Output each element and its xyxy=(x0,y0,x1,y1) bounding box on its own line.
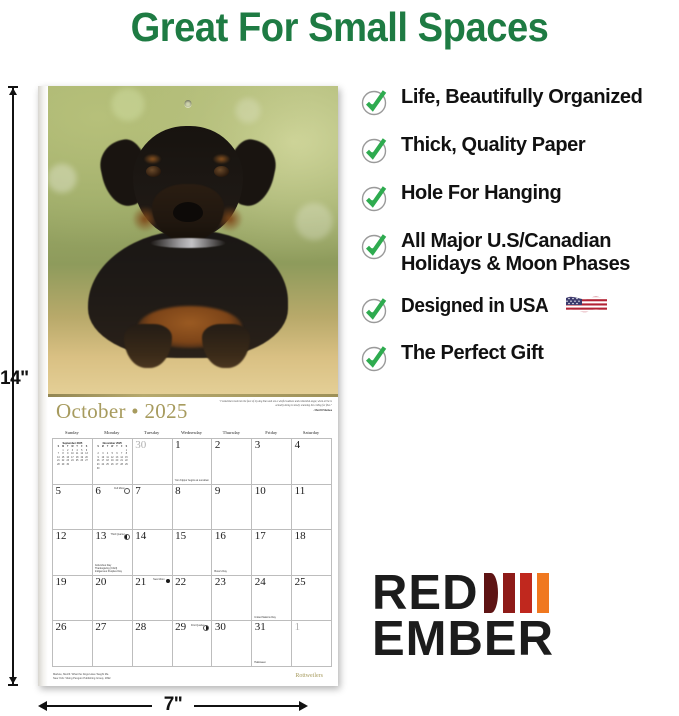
autumn-leaves xyxy=(38,298,338,394)
calendar-day-cell: 26 xyxy=(53,621,93,667)
mini-calendar-dow: S xyxy=(84,446,89,449)
calendar-day-number: 9 xyxy=(215,486,221,497)
mini-calendar-day: 30 xyxy=(96,468,101,471)
feature-label: The Perfect Gift xyxy=(401,342,544,364)
feature-row: The Perfect Gift xyxy=(360,342,672,372)
calendar-day-name: Wednesday xyxy=(172,430,212,435)
calendar-day-number: 30 xyxy=(215,622,226,633)
calendar-day-number: 18 xyxy=(295,531,306,542)
calendar-day-cell: 6Full Moon xyxy=(93,485,133,531)
dog-collar xyxy=(150,238,226,248)
height-cap-top xyxy=(8,86,18,88)
feature-label: Hole For Hanging xyxy=(401,182,561,204)
calendar-day-cell: 18 xyxy=(292,530,332,576)
mini-calendar: September 2025SMTWTFS1234567891011121314… xyxy=(56,442,89,467)
calendar-day-number: 24 xyxy=(255,577,266,588)
dog-eye-right xyxy=(214,166,229,177)
calendar-day-cell: 9 xyxy=(212,485,252,531)
calendar-day-cell: 15 xyxy=(173,530,213,576)
feature-label: Designed in USA xyxy=(401,295,548,318)
calendar-day-cell: 20 xyxy=(93,576,133,622)
check-circle-icon xyxy=(360,231,390,261)
calendar-day-cell: 14 xyxy=(133,530,173,576)
calendar-day-grid: September 2025SMTWTFS1234567891011121314… xyxy=(52,438,332,667)
calendar-quote-author: - Merrill Markoe xyxy=(214,409,332,413)
calendar-day-cell: 3 xyxy=(252,439,292,485)
calendar-day-number: 6 xyxy=(95,486,101,497)
feature-label: Life, Beautifully Organized xyxy=(401,86,642,108)
feature-row: Life, Beautifully Organized xyxy=(360,86,672,116)
calendar-header: October • 2025 "I sometimes look into th… xyxy=(38,397,338,429)
mini-calendar-day: 20 xyxy=(84,457,89,460)
moon-phase-icon xyxy=(166,579,170,583)
calendar-holiday-note: Boss's Day xyxy=(214,570,249,573)
dog-brow-right xyxy=(213,154,230,164)
calendar-day-number: 27 xyxy=(95,622,106,633)
check-circle-icon xyxy=(360,343,390,373)
mini-calendar-day xyxy=(84,464,89,467)
moon-phase-label: Full Moon xyxy=(114,487,125,490)
calendar-day-number: 23 xyxy=(215,577,226,588)
calendar-day-number: 31 xyxy=(255,622,266,633)
width-bar-left xyxy=(46,705,152,707)
calendar-day-cell: 28 xyxy=(133,621,173,667)
mini-calendar-day: 29 xyxy=(124,464,129,467)
calendar-day-cell: 13Third QuarterColumbus Day Thanksgiving… xyxy=(93,530,133,576)
calendar-day-cell: 22 xyxy=(173,576,213,622)
calendar-day-number: 7 xyxy=(135,486,141,497)
calendar-day-number: 5 xyxy=(56,486,62,497)
calendar-holiday-note: Columbus Day Thanksgiving (CAN) Indigeno… xyxy=(95,564,130,574)
calendar-day-number: 10 xyxy=(255,486,266,497)
width-arrow-right xyxy=(299,701,308,711)
hanging-hole xyxy=(185,100,192,107)
calendar-day-cell: 30 xyxy=(212,621,252,667)
width-dimension-line: 7" xyxy=(38,699,308,713)
calendar-day-cell: 7 xyxy=(133,485,173,531)
calendar-day-number: 25 xyxy=(295,577,306,588)
calendar-day-cell: 25 xyxy=(292,576,332,622)
calendar-day-number: 19 xyxy=(56,577,67,588)
calendar-grid-panel: October • 2025 "I sometimes look into th… xyxy=(38,394,338,686)
mini-calendar: November 2025SMTWTFS12345678910111213141… xyxy=(96,442,129,471)
moon-phase-label: First Quarter xyxy=(191,624,204,627)
calendar-day-number: 2 xyxy=(215,440,221,451)
mini-calendar-dow: S xyxy=(124,446,129,449)
calendar-day-cell: 8 xyxy=(173,485,213,531)
calendar-day-number: 21 xyxy=(135,577,146,588)
calendar-day-number: 16 xyxy=(215,531,226,542)
logo-line-red: RED xyxy=(372,570,592,616)
calendar-day-number: 22 xyxy=(175,577,186,588)
calendar-day-name: Tuesday xyxy=(132,430,172,435)
logo-bars xyxy=(484,573,549,613)
mini-calendar-day: 27 xyxy=(84,460,89,463)
calendar-footer-credit: Markoe, Merrill. What the Dogs Have Taug… xyxy=(53,673,111,680)
calendar-day-number: 15 xyxy=(175,531,186,542)
height-label: 14" xyxy=(0,368,34,390)
calendar-month-title: October • 2025 xyxy=(56,399,188,424)
check-circle-icon xyxy=(360,87,390,117)
feature-list: Life, Beautifully OrganizedThick, Qualit… xyxy=(360,86,672,390)
width-bar-right xyxy=(194,705,300,707)
height-cap-bottom xyxy=(8,684,18,686)
calendar-day-cell: 1Yom Kippur begins at sundown xyxy=(173,439,213,485)
calendar-quote-text: "I sometimes look into the face of my do… xyxy=(219,400,332,407)
calendar-day-cell: 10 xyxy=(252,485,292,531)
calendar-day-cell: 4 xyxy=(292,439,332,485)
calendar-day-cell: 27 xyxy=(93,621,133,667)
mini-calendar-day: 6 xyxy=(84,450,89,453)
calendar-day-cell: 1 xyxy=(292,621,332,667)
logo-bar-4 xyxy=(537,573,549,613)
calendar-day-cell: 19 xyxy=(53,576,93,622)
calendar-product: October • 2025 "I sometimes look into th… xyxy=(38,86,338,686)
mini-calendar-day: 13 xyxy=(84,453,89,456)
calendar-day-cell: 24United Nations Day xyxy=(252,576,292,622)
calendar-holiday-note: Yom Kippur begins at sundown xyxy=(175,479,210,482)
calendar-day-names: SundayMondayTuesdayWednesdayThursdayFrid… xyxy=(52,430,331,435)
calendar-day-number: 30 xyxy=(135,440,146,451)
calendar-day-number: 13 xyxy=(95,531,106,542)
mini-calendar-day: 1 xyxy=(124,450,129,453)
calendar-day-cell: 2 xyxy=(212,439,252,485)
calendar-day-number: 17 xyxy=(255,531,266,542)
feature-label: Thick, Quality Paper xyxy=(401,134,585,156)
moon-phase-label: Third Quarter xyxy=(110,533,124,536)
calendar-day-cell: 5 xyxy=(53,485,93,531)
calendar-photo-panel xyxy=(38,86,338,394)
calendar-day-cell: 21New Moon xyxy=(133,576,173,622)
height-arrow-bottom xyxy=(9,677,17,684)
calendar-day-cell: 16Boss's Day xyxy=(212,530,252,576)
calendar-day-number: 26 xyxy=(56,622,67,633)
calendar-day-cell: September 2025SMTWTFS1234567891011121314… xyxy=(53,439,93,485)
calendar-day-number: 1 xyxy=(295,622,301,633)
calendar-day-cell: 29First Quarter xyxy=(173,621,213,667)
calendar-day-cell: 30 xyxy=(133,439,173,485)
check-circle-icon xyxy=(360,135,390,165)
usa-flag-icon xyxy=(564,294,608,321)
red-ember-logo: RED EMBER xyxy=(372,570,592,662)
mini-calendar-grid: SMTWTFS123456789101112131415161718192021… xyxy=(56,446,89,467)
mini-calendar-title: September 2025 xyxy=(56,442,89,445)
check-circle-icon xyxy=(360,183,390,213)
calendar-day-cell: 31Halloween xyxy=(252,621,292,667)
feature-row: Hole For Hanging xyxy=(360,182,672,212)
logo-bar-2 xyxy=(503,573,515,613)
calendar-day-number: 1 xyxy=(175,440,181,451)
calendar-day-number: 28 xyxy=(135,622,146,633)
mini-calendar-day: 8 xyxy=(124,453,129,456)
calendar-day-number: 3 xyxy=(255,440,261,451)
logo-bar-1 xyxy=(484,573,498,613)
width-label: 7" xyxy=(157,694,190,716)
calendar-day-name: Saturday xyxy=(291,430,331,435)
dog-nose xyxy=(173,202,203,222)
calendar-day-name: Thursday xyxy=(211,430,251,435)
feature-row: All Major U.S/Canadian Holidays & Moon P… xyxy=(360,230,672,276)
calendar-day-number: 11 xyxy=(295,486,306,497)
calendar-day-name: Monday xyxy=(92,430,132,435)
calendar-day-cell: November 2025SMTWTFS12345678910111213141… xyxy=(93,439,133,485)
calendar-day-cell: 17 xyxy=(252,530,292,576)
logo-bar-3 xyxy=(520,573,532,613)
calendar-day-name: Sunday xyxy=(52,430,92,435)
calendar-quote: "I sometimes look into the face of my do… xyxy=(214,400,332,412)
dog-brow-left xyxy=(144,154,161,164)
calendar-day-cell: 12 xyxy=(53,530,93,576)
mini-calendar-day: 15 xyxy=(124,457,129,460)
calendar-day-number: 29 xyxy=(175,622,186,633)
calendar-day-number: 20 xyxy=(95,577,106,588)
calendar-day-number: 4 xyxy=(295,440,301,451)
calendar-footer-breed: Rottweilers xyxy=(295,673,323,679)
mini-calendar-day: 22 xyxy=(124,460,129,463)
calendar-day-number: 8 xyxy=(175,486,181,497)
calendar-day-number: 12 xyxy=(56,531,67,542)
calendar-day-cell: 11 xyxy=(292,485,332,531)
height-arrow-top xyxy=(9,88,17,95)
mini-calendar-title: November 2025 xyxy=(96,442,129,445)
calendar-day-cell: 23 xyxy=(212,576,252,622)
logo-line-ember: EMBER xyxy=(372,616,592,662)
feature-label: All Major U.S/Canadian Holidays & Moon P… xyxy=(401,230,630,275)
calendar-day-name: Friday xyxy=(251,430,291,435)
mini-calendar-grid: SMTWTFS123456789101112131415161718192021… xyxy=(96,446,129,471)
check-circle-icon xyxy=(360,295,390,325)
page-title: Great For Small Spaces xyxy=(24,4,655,51)
feature-row: Thick, Quality Paper xyxy=(360,134,672,164)
moon-phase-label: New Moon xyxy=(153,578,164,581)
dog-eye-left xyxy=(146,166,161,177)
calendar-holiday-note: United Nations Day xyxy=(254,616,289,619)
calendar-holiday-note: Halloween xyxy=(254,661,289,664)
calendar-day-number: 14 xyxy=(135,531,146,542)
feature-row: Designed in USA xyxy=(360,294,672,324)
